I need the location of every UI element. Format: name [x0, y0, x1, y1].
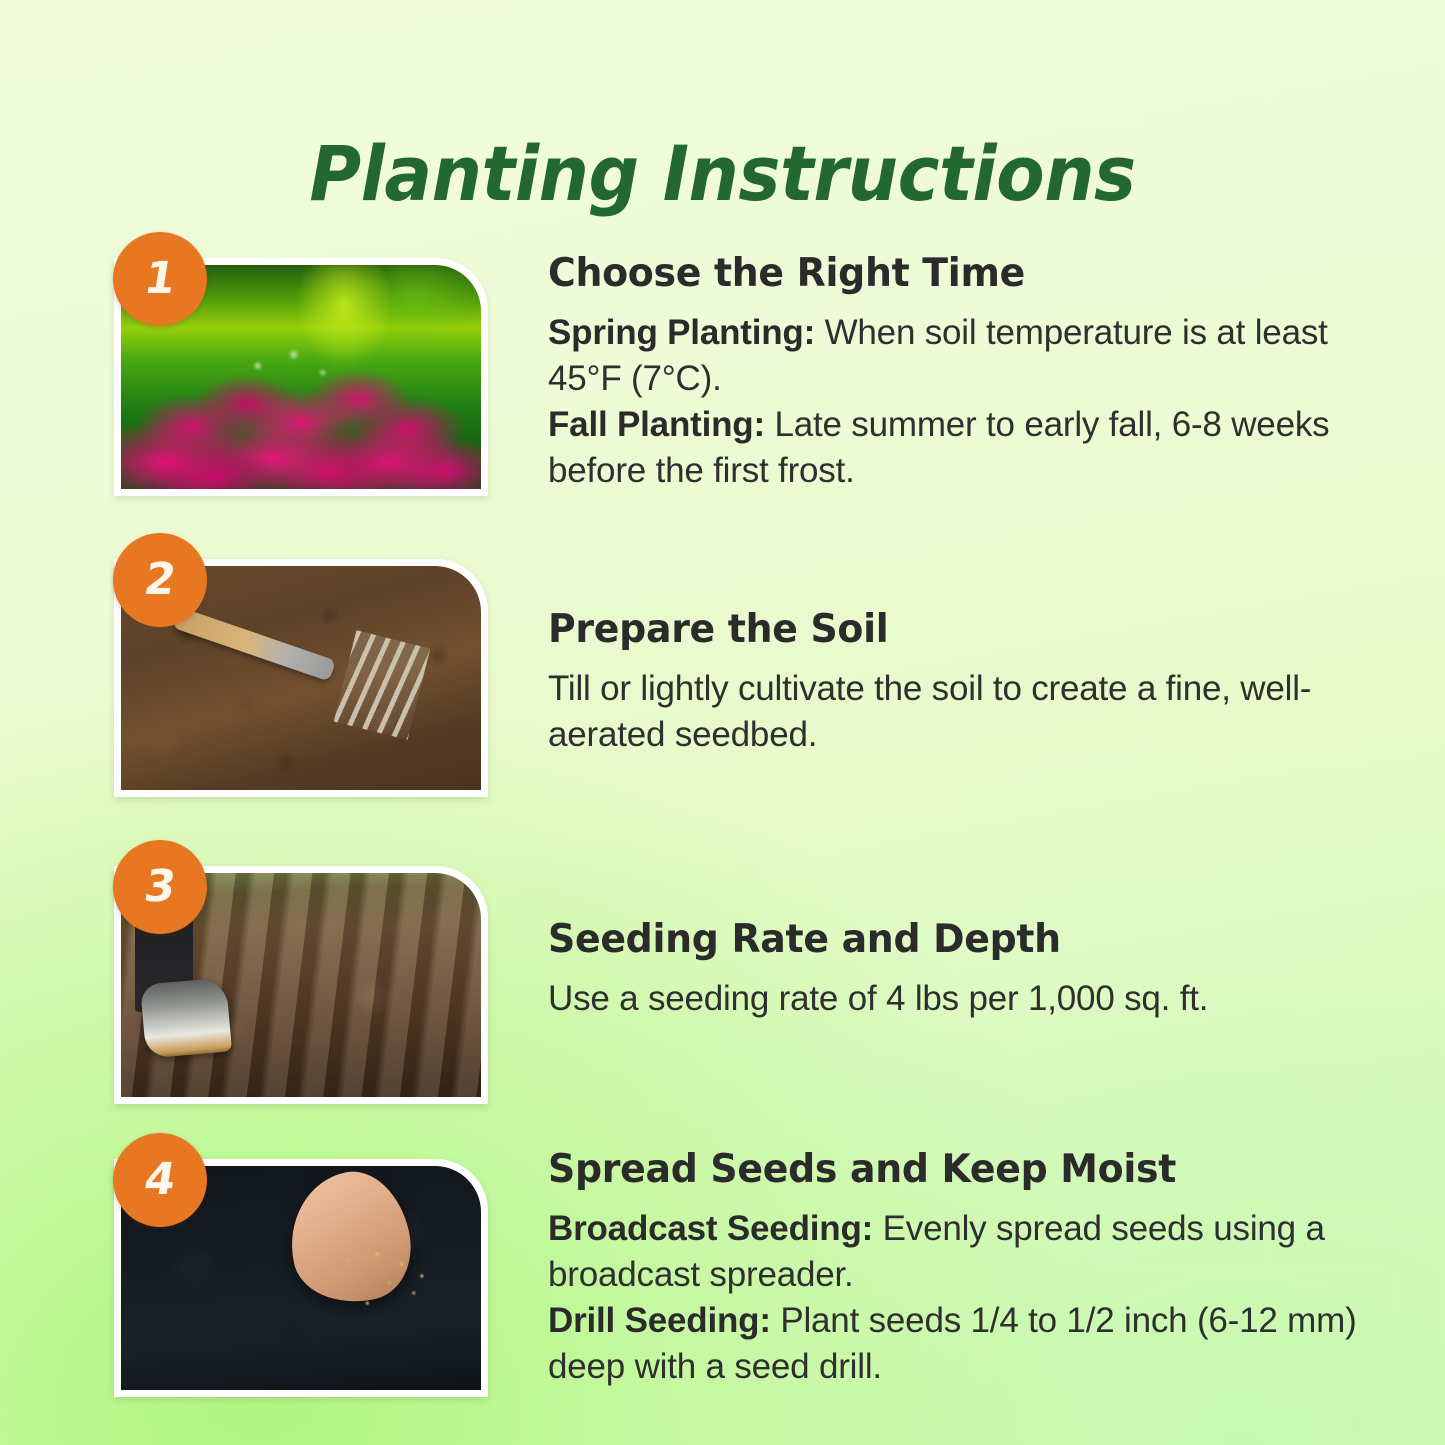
step-number-label-4: 4 — [110, 1158, 211, 1202]
step-number-label-2: 2 — [110, 558, 211, 602]
step-body-3: Use a seeding rate of 4 lbs per 1,000 sq… — [548, 976, 1358, 1022]
step-heading-2: Prepare the Soil — [548, 606, 1334, 654]
step-body-1: Spring Planting: When soil temperature i… — [548, 310, 1358, 495]
step-body-label-4b: Drill Seeding: — [548, 1301, 771, 1340]
step-body-text-2a: Till or lightly cultivate the soil to cr… — [548, 669, 1311, 754]
step-text-column-4: Spread Seeds and Keep Moist Broadcast Se… — [548, 1146, 1358, 1390]
step-text-column-2: Prepare the Soil Till or lightly cultiva… — [548, 606, 1358, 758]
step-number-label-3: 3 — [110, 865, 211, 909]
step-number-badge-2: 2 — [113, 533, 207, 627]
step-body-2: Till or lightly cultivate the soil to cr… — [548, 666, 1358, 758]
step-text-column-3: Seeding Rate and Depth Use a seeding rat… — [548, 916, 1358, 1022]
page-title: Planting Instructions — [51, 129, 1395, 218]
step-body-4: Broadcast Seeding: Evenly spread seeds u… — [548, 1206, 1358, 1391]
step-body-text-3a: Use a seeding rate of 4 lbs per 1,000 sq… — [548, 979, 1208, 1018]
step-number-badge-3: 3 — [113, 840, 207, 934]
step-heading-1: Choose the Right Time — [548, 250, 1334, 298]
planting-instructions-poster: Planting Instructions 1 Choose the Right… — [0, 0, 1445, 1445]
step-heading-4: Spread Seeds and Keep Moist — [548, 1146, 1334, 1194]
step-number-badge-1: 1 — [113, 232, 207, 326]
step-number-label-1: 1 — [110, 257, 211, 301]
step-number-badge-4: 4 — [113, 1133, 207, 1227]
step-heading-3: Seeding Rate and Depth — [548, 916, 1334, 964]
step-body-label-1b: Fall Planting: — [548, 405, 765, 444]
step-body-label-4a: Broadcast Seeding: — [548, 1209, 873, 1248]
step-text-column-1: Choose the Right Time Spring Planting: W… — [548, 250, 1358, 494]
step-body-label-1a: Spring Planting: — [548, 313, 815, 352]
